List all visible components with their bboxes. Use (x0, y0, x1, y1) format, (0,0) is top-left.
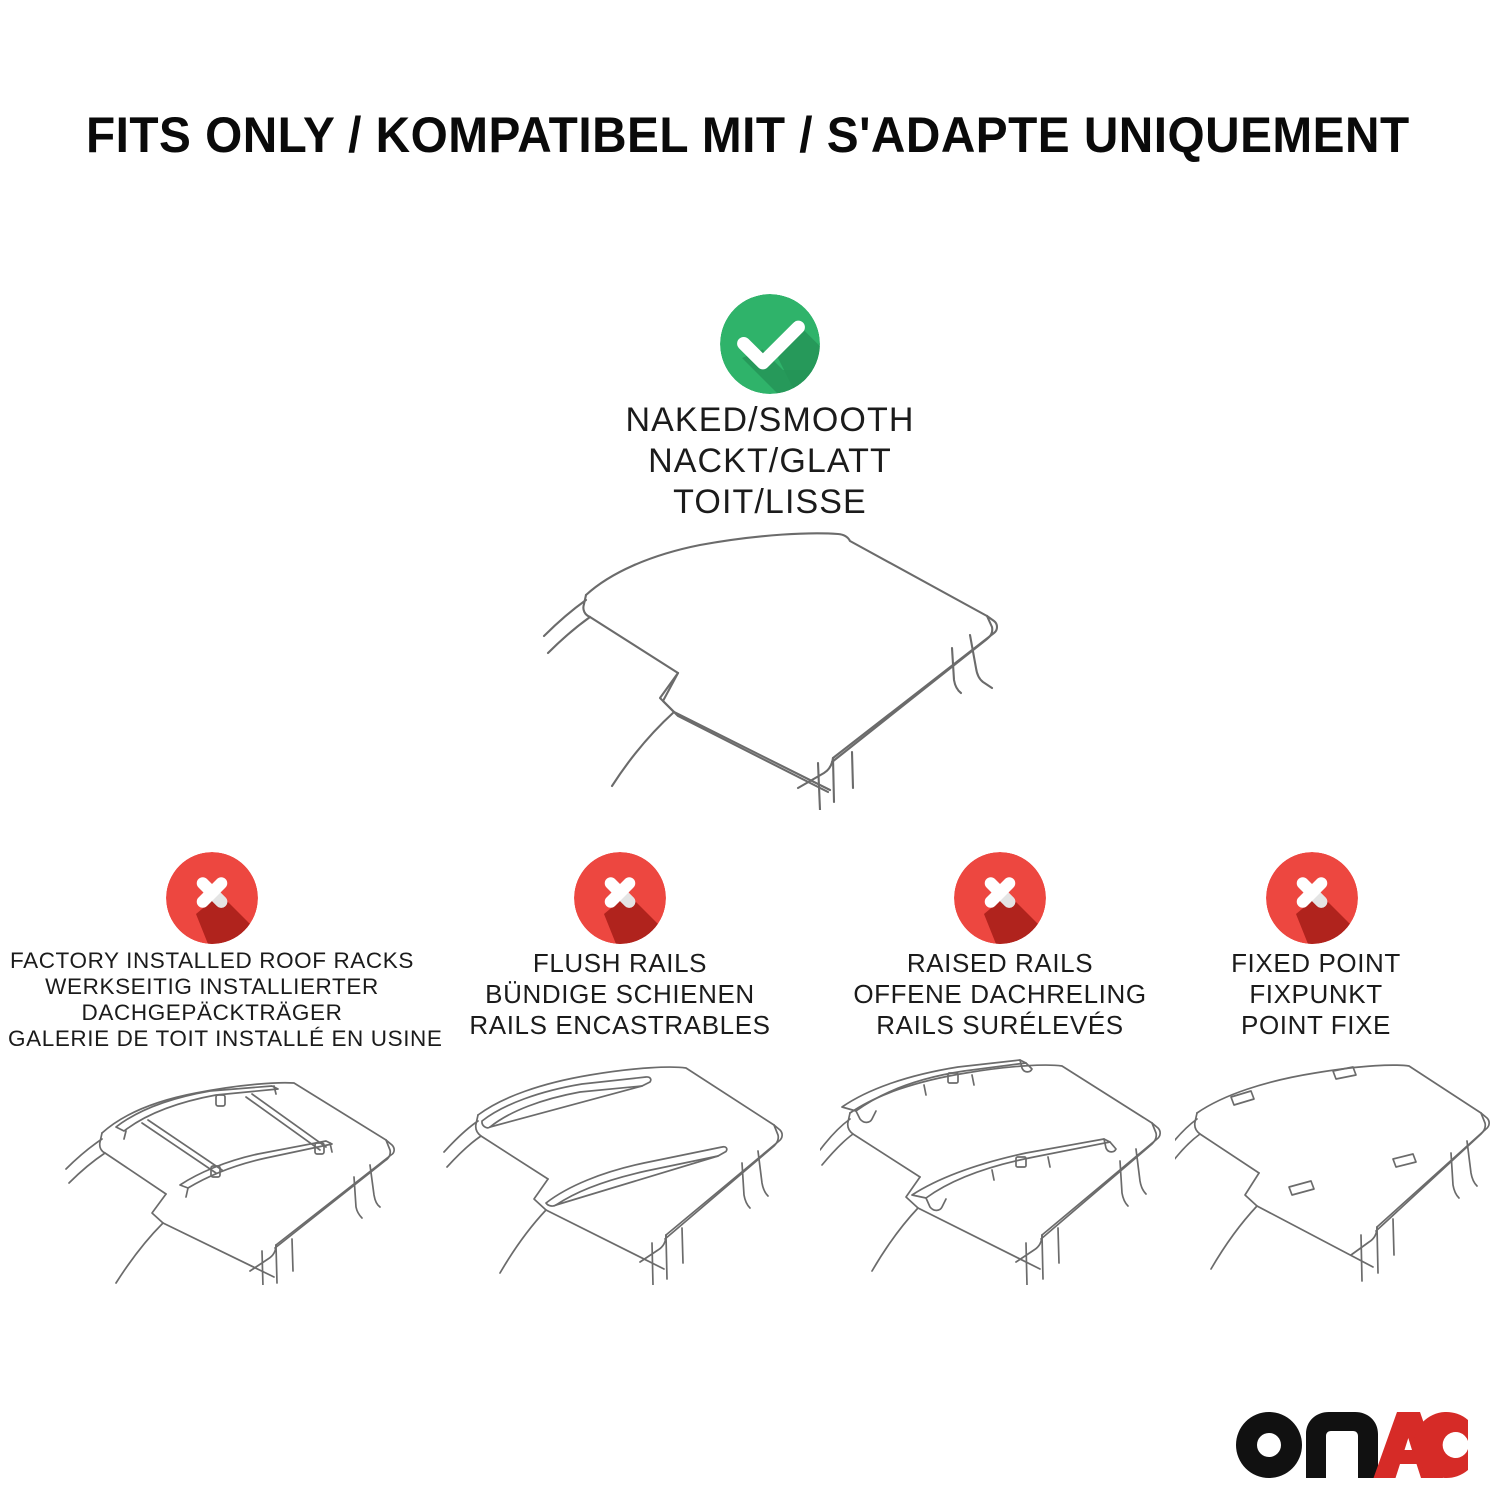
logo-letter-m (1306, 1412, 1378, 1478)
x-circle-icon (574, 852, 666, 944)
bare-smooth-roof-illustration (500, 520, 1020, 810)
compatible-caption: NAKED/SMOOTH NACKT/GLATT TOIT/LISSE (470, 400, 1070, 523)
caption-line: BÜNDIGE SCHIENEN (432, 979, 808, 1010)
caption-line: NACKT/GLATT (470, 441, 1070, 482)
omac-logo (1232, 1408, 1468, 1482)
x-circle-icon (1266, 852, 1358, 944)
caption-line: OFFENE DACHRELING (812, 979, 1188, 1010)
incompatible-caption-flush-rails: FLUSH RAILS BÜNDIGE SCHIENEN RAILS ENCAS… (432, 948, 808, 1041)
raised-rails-illustration (820, 1055, 1220, 1285)
caption-line: FIXED POINT (1158, 948, 1474, 979)
caption-line: FIXPUNKT (1158, 979, 1474, 1010)
flush-rails-illustration (430, 1055, 830, 1285)
factory-roof-rack-illustration (30, 1055, 430, 1285)
caption-line: DACHGEPÄCKTRÄGER (8, 1000, 416, 1026)
caption-line: RAILS ENCASTRABLES (432, 1010, 808, 1041)
caption-line: GALERIE DE TOIT INSTALLÉ EN USINE (8, 1026, 416, 1052)
incompatible-caption-raised-rails: RAISED RAILS OFFENE DACHRELING RAILS SUR… (812, 948, 1188, 1041)
x-circle-icon (166, 852, 258, 944)
caption-line: FACTORY INSTALLED ROOF RACKS (8, 948, 416, 974)
caption-line: WERKSEITIG INSTALLIERTER (8, 974, 416, 1000)
caption-line: POINT FIXE (1158, 1010, 1474, 1041)
x-circle-icon (954, 852, 1046, 944)
incompatible-caption-factory-racks: FACTORY INSTALLED ROOF RACKS WERKSEITIG … (8, 948, 416, 1052)
incompatible-caption-fixed-point: FIXED POINT FIXPUNKT POINT FIXE (1158, 948, 1474, 1041)
page-title: FITS ONLY / KOMPATIBEL MIT / S'ADAPTE UN… (86, 104, 1366, 166)
caption-line: NAKED/SMOOTH (470, 400, 1070, 441)
check-circle-icon (720, 294, 820, 394)
logo-letter-o (1236, 1412, 1302, 1478)
fixed-point-illustration (1175, 1055, 1500, 1285)
caption-line: RAISED RAILS (812, 948, 1188, 979)
caption-line: TOIT/LISSE (470, 482, 1070, 523)
caption-line: RAILS SURÉLEVÉS (812, 1010, 1188, 1041)
caption-line: FLUSH RAILS (432, 948, 808, 979)
